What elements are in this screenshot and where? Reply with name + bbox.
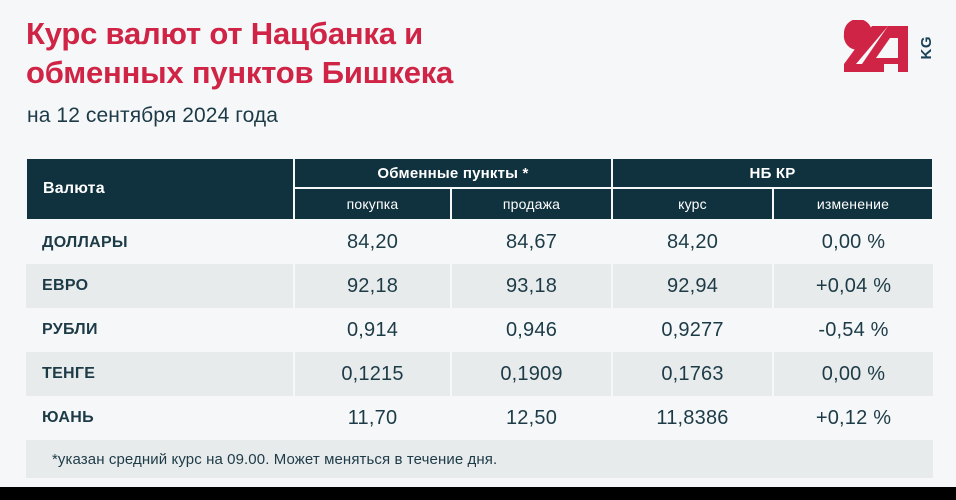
page-title-line-1: Курс валют от Нацбанка и [26, 14, 646, 53]
cell-currency: РУБЛИ [26, 308, 294, 352]
cell-rate: 0,9277 [612, 308, 773, 352]
cell-sell: 84,67 [451, 220, 612, 264]
column-group-nbkr: НБ КР [612, 158, 933, 188]
page-title-line-2: обменных пунктов Бишкека [26, 53, 646, 92]
column-header-rate: курс [612, 188, 773, 220]
column-header-buy: покупка [294, 188, 451, 220]
table-footer: *указан средний курс на 09.00. Может мен… [26, 440, 933, 478]
infographic-header: Курс валют от Нацбанка и обменных пункто… [0, 0, 956, 150]
cell-buy: 11,70 [294, 396, 451, 440]
logo-24-icon [842, 20, 918, 72]
cell-rate: 0,1763 [612, 352, 773, 396]
page-subtitle: на 12 сентября 2024 года [27, 104, 278, 128]
cell-change: +0,12 % [773, 396, 933, 440]
page-title: Курс валют от Нацбанка и обменных пункто… [26, 14, 646, 93]
rates-table-container: Валюта Обменные пункты * НБ КР покупка п… [25, 157, 932, 478]
cell-rate: 84,20 [612, 220, 773, 264]
cell-buy: 92,18 [294, 264, 451, 308]
table-body: ДОЛЛАРЫ 84,20 84,67 84,20 0,00 % ЕВРО 92… [26, 220, 933, 440]
column-header-change: изменение [773, 188, 933, 220]
cell-sell: 0,946 [451, 308, 612, 352]
table-row: ДОЛЛАРЫ 84,20 84,67 84,20 0,00 % [26, 220, 933, 264]
cell-currency: ТЕНГЕ [26, 352, 294, 396]
column-header-sell: продажа [451, 188, 612, 220]
table-header: Валюта Обменные пункты * НБ КР покупка п… [26, 158, 933, 220]
bottom-bar [0, 487, 956, 500]
footnote-row: *указан средний курс на 09.00. Может мен… [26, 440, 933, 478]
currency-rates-table: Валюта Обменные пункты * НБ КР покупка п… [25, 157, 934, 478]
cell-currency: ЕВРО [26, 264, 294, 308]
cell-change: +0,04 % [773, 264, 933, 308]
cell-currency: ДОЛЛАРЫ [26, 220, 294, 264]
cell-change: 0,00 % [773, 220, 933, 264]
column-group-exchange-offices: Обменные пункты * [294, 158, 612, 188]
cell-buy: 0,1215 [294, 352, 451, 396]
table-row: ЮАНЬ 11,70 12,50 11,8386 +0,12 % [26, 396, 933, 440]
cell-buy: 84,20 [294, 220, 451, 264]
logo-kg-label: KG [919, 36, 934, 60]
cell-change: -0,54 % [773, 308, 933, 352]
cell-rate: 92,94 [612, 264, 773, 308]
table-row: ТЕНГЕ 0,1215 0,1909 0,1763 0,00 % [26, 352, 933, 396]
column-header-currency: Валюта [26, 158, 294, 220]
cell-sell: 0,1909 [451, 352, 612, 396]
cell-sell: 93,18 [451, 264, 612, 308]
cell-currency: ЮАНЬ [26, 396, 294, 440]
cell-buy: 0,914 [294, 308, 451, 352]
cell-rate: 11,8386 [612, 396, 773, 440]
cell-sell: 12,50 [451, 396, 612, 440]
cell-change: 0,00 % [773, 352, 933, 396]
table-row: РУБЛИ 0,914 0,946 0,9277 -0,54 % [26, 308, 933, 352]
brand-logo: KG [842, 20, 934, 72]
table-row: ЕВРО 92,18 93,18 92,94 +0,04 % [26, 264, 933, 308]
footnote-text: *указан средний курс на 09.00. Может мен… [26, 440, 933, 478]
table-header-row-groups: Валюта Обменные пункты * НБ КР [26, 158, 933, 188]
